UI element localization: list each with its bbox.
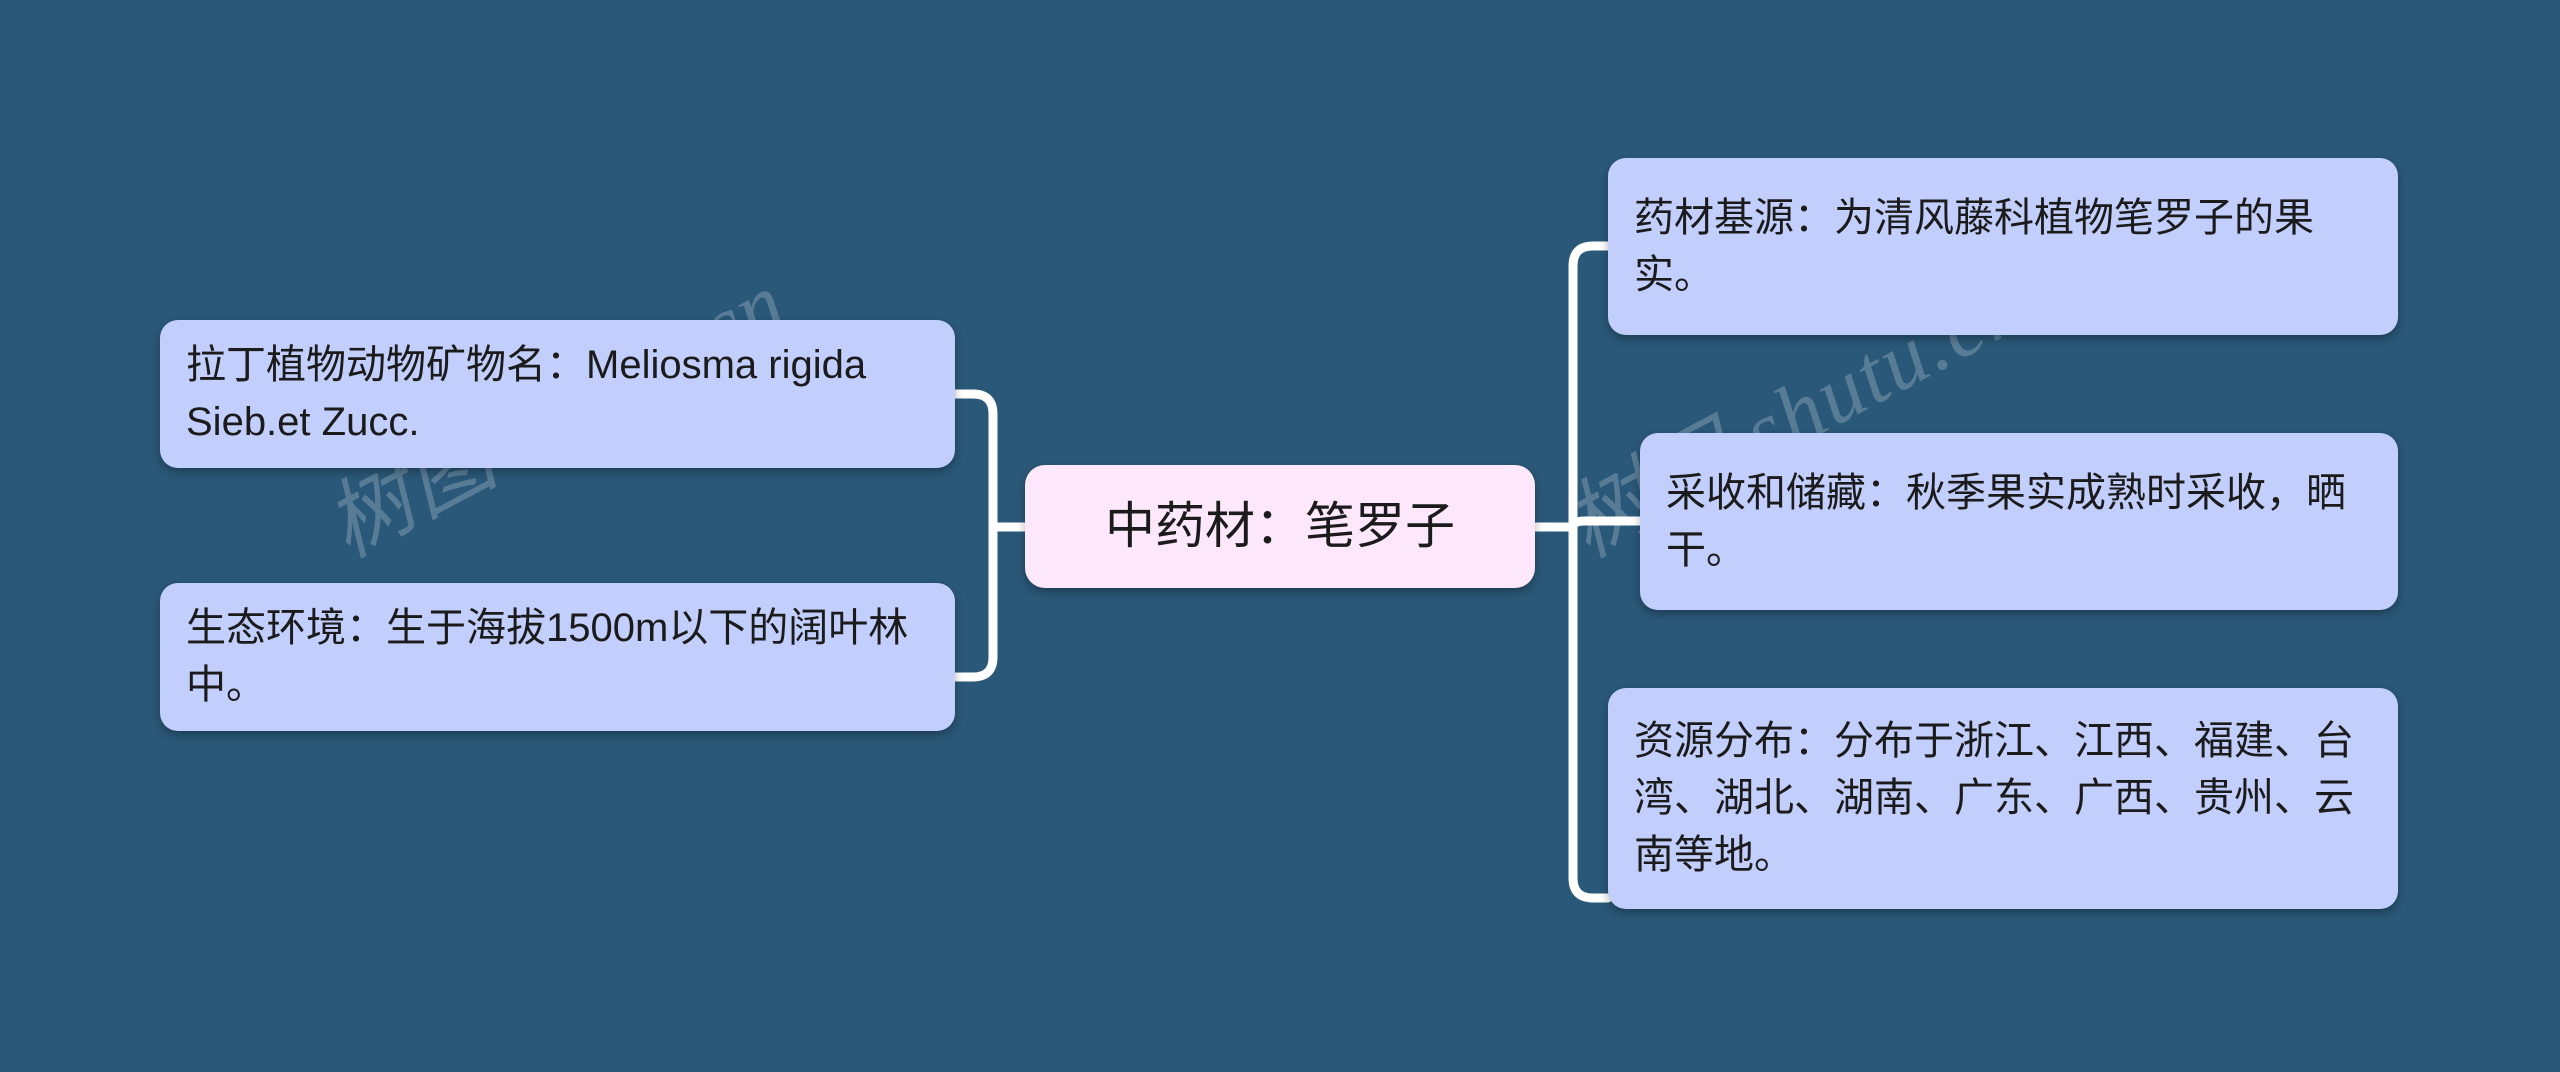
- connector-right-branch-0: [1573, 246, 1608, 527]
- branch-node-label: 生态环境：生于海拔1500m以下的阔叶林中。: [186, 600, 929, 714]
- root-node[interactable]: 中药材：笔罗子: [1025, 465, 1535, 588]
- branch-node-harvest-storage[interactable]: 采收和储藏：秋季果实成熟时采收，晒干。: [1640, 433, 2398, 610]
- branch-node-latin-name[interactable]: 拉丁植物动物矿物名：Meliosma rigida Sieb.et Zucc.: [160, 320, 955, 468]
- branch-node-ecology[interactable]: 生态环境：生于海拔1500m以下的阔叶林中。: [160, 583, 955, 731]
- connector-left-branch-0: [955, 394, 993, 527]
- branch-node-source[interactable]: 药材基源：为清风藤科植物笔罗子的果实。: [1608, 158, 2398, 335]
- branch-node-label: 药材基源：为清风藤科植物笔罗子的果实。: [1634, 190, 2372, 304]
- connector-right-branch-2: [1573, 527, 1608, 898]
- mindmap-canvas: 树图 shutu.cn 树图 shutu.cn 中药材：笔罗子 拉丁植物动物矿物…: [0, 0, 2560, 1072]
- branch-node-label: 采收和储藏：秋季果实成熟时采收，晒干。: [1666, 465, 2372, 579]
- root-node-label: 中药材：笔罗子: [1059, 491, 1501, 562]
- branch-node-label: 拉丁植物动物矿物名：Meliosma rigida Sieb.et Zucc.: [186, 337, 929, 451]
- branch-node-distribution[interactable]: 资源分布：分布于浙江、江西、福建、台湾、湖北、湖南、广东、广西、贵州、云南等地。: [1608, 688, 2398, 909]
- branch-node-label: 资源分布：分布于浙江、江西、福建、台湾、湖北、湖南、广东、广西、贵州、云南等地。: [1634, 713, 2372, 883]
- connector-left-branch-1: [955, 527, 993, 677]
- connector-right-branch-1: [1573, 521, 1640, 527]
